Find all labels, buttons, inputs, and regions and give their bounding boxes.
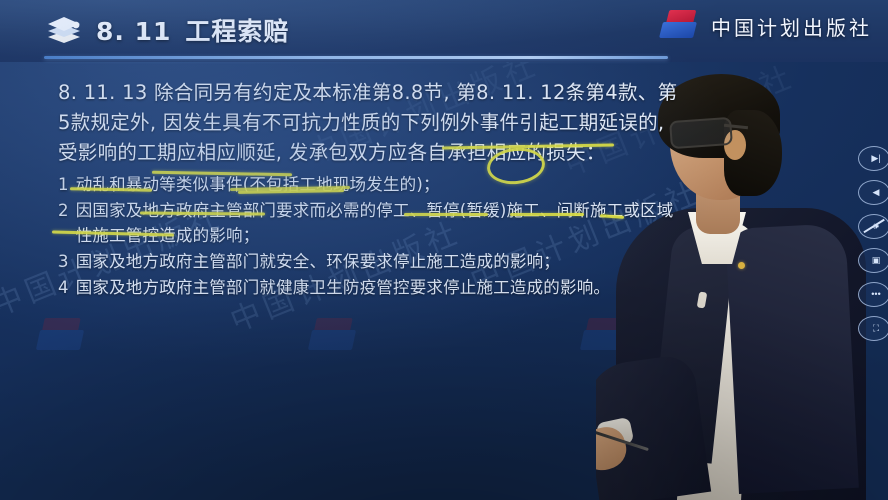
list-item-text: 因国家及地方政府主管部门要求而必需的停工、暂停(暂缓)施工、间断施工或区域性施工…: [76, 198, 678, 248]
fullscreen-icon: ⛶: [873, 324, 879, 333]
screenshot-button[interactable]: ▣: [858, 248, 888, 273]
list-item: 4 国家及地方政府主管部门就健康卫生防疫管控要求停止施工造成的影响。: [58, 275, 678, 300]
list-item-number: 4: [58, 275, 69, 300]
list-item-text: 动乱和暴动等类似事件(不包括工地现场发生的)；: [76, 172, 678, 197]
fullscreen-button[interactable]: ⛶: [858, 316, 888, 341]
publisher-name: 中国计划出版社: [711, 12, 872, 41]
previous-button[interactable]: ◀: [858, 180, 888, 205]
watermark-logo: [36, 316, 94, 358]
mute-icon: 🕪: [873, 222, 879, 231]
publisher-logo: 中国计划出版社: [659, 10, 872, 42]
glasses: [669, 117, 733, 149]
mute-button[interactable]: 🕪: [858, 214, 888, 239]
slide-title-group: 8. 11工程索赔: [46, 12, 289, 48]
list-item: 1 动乱和暴动等类似事件(不包括工地现场发生的)；: [58, 172, 678, 197]
more-options-icon: •••: [871, 290, 880, 299]
slide-body: 8. 11. 13 除合同另有约定及本标准第8.8节, 第8. 11. 12条第…: [58, 78, 678, 301]
more-options-button[interactable]: •••: [858, 282, 888, 307]
lecture-video-frame: 中国计划出版社 中国计划出版社 中国计划出版社 中国计划出版社 中国计划出版社: [0, 0, 888, 500]
section-title: 工程索赔: [185, 17, 289, 46]
list-item-number: 2: [58, 198, 69, 248]
next-button[interactable]: ▶|: [858, 146, 888, 171]
list-item-text: 国家及地方政府主管部门就安全、环保要求停止施工造成的影响；: [76, 249, 678, 274]
stacked-books-icon: [46, 14, 82, 46]
book-logo-icon: [659, 10, 701, 42]
screenshot-icon: ▣: [872, 256, 881, 265]
watermark-logo: [308, 316, 366, 358]
next-icon: ▶|: [871, 154, 880, 163]
list-item: 3 国家及地方政府主管部门就安全、环保要求停止施工造成的影响；: [58, 249, 678, 274]
list-item-number: 3: [58, 249, 69, 274]
previous-icon: ◀: [873, 188, 880, 197]
list-item: 2 因国家及地方政府主管部门要求而必需的停工、暂停(暂缓)施工、间断施工或区域性…: [58, 198, 678, 248]
list-item-number: 1: [58, 172, 69, 197]
clause-paragraph: 8. 11. 13 除合同另有约定及本标准第8.8节, 第8. 11. 12条第…: [58, 78, 678, 168]
section-number: 8. 11: [96, 17, 171, 46]
clause-item-list: 1 动乱和暴动等类似事件(不包括工地现场发生的)； 2 因国家及地方政府主管部门…: [58, 172, 678, 300]
list-item-text: 国家及地方政府主管部门就健康卫生防疫管控要求停止施工造成的影响。: [76, 275, 678, 300]
page-title: 8. 11工程索赔: [96, 12, 289, 48]
header-divider: [44, 56, 668, 59]
player-control-rail[interactable]: ▶| ◀ 🕪 ▣ ••• ⛶: [866, 146, 888, 350]
